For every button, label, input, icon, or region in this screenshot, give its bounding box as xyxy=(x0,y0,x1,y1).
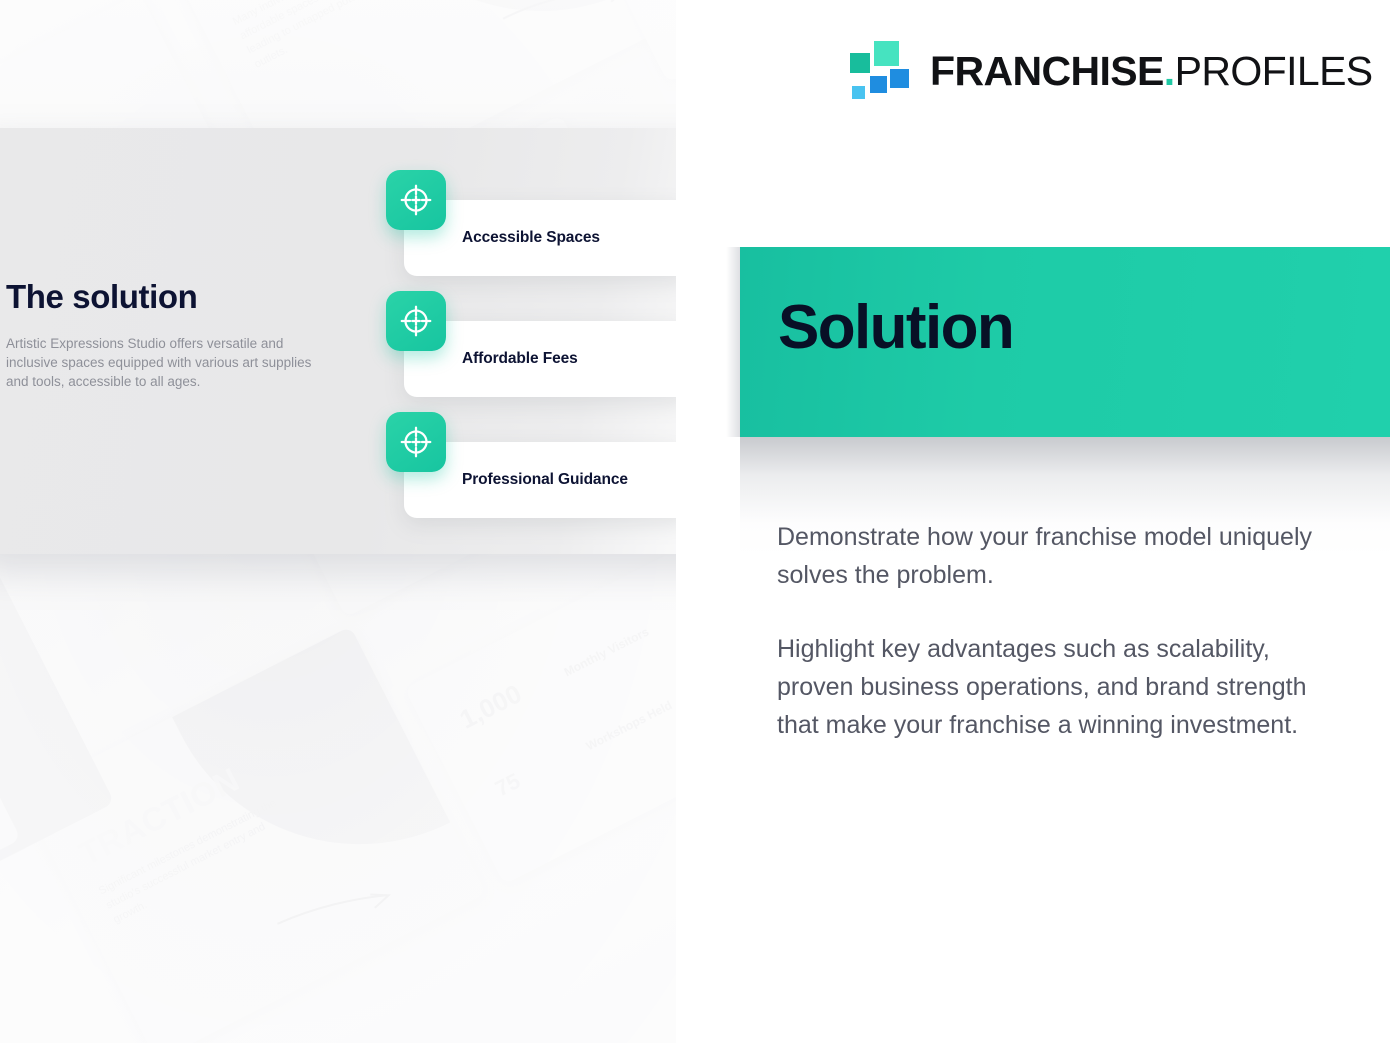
slide-preview-text-block: The solution Artistic Expressions Studio… xyxy=(6,278,336,391)
slide-preview-card: The solution Artistic Expressions Studio… xyxy=(0,128,744,554)
crosshair-target-icon xyxy=(386,170,446,230)
section-title: Solution xyxy=(778,297,1013,359)
feature-card-professional-guidance[interactable]: Professional Guidance xyxy=(404,442,690,518)
guidance-paragraph-1: Demonstrate how your franchise model uni… xyxy=(777,518,1313,594)
feature-card-label: Affordable Fees xyxy=(462,350,578,368)
franchise-profiles-logo: FRANCHISE.PROFILES xyxy=(848,40,1373,102)
logo-dot: . xyxy=(1164,48,1175,94)
feature-card-affordable-fees[interactable]: Affordable Fees xyxy=(404,321,690,397)
feature-card-label: Accessible Spaces xyxy=(462,229,600,247)
slide-preview-title: The solution xyxy=(6,278,336,316)
guidance-text: Demonstrate how your franchise model uni… xyxy=(777,518,1313,744)
crosshair-target-icon xyxy=(386,291,446,351)
logo-mark-squares-icon xyxy=(848,40,912,102)
crosshair-target-icon xyxy=(386,412,446,472)
section-banner: Solution xyxy=(740,247,1390,437)
slide-preview-description: Artistic Expressions Studio offers versa… xyxy=(6,334,336,391)
logo-wordmark: FRANCHISE.PROFILES xyxy=(930,51,1373,92)
guidance-paragraph-2: Highlight key advantages such as scalabi… xyxy=(777,630,1313,744)
feature-card-label: Professional Guidance xyxy=(462,471,628,489)
feature-card-accessible-spaces[interactable]: Accessible Spaces xyxy=(404,200,690,276)
logo-word-franchise: FRANCHISE xyxy=(930,48,1164,94)
logo-word-profiles: PROFILES xyxy=(1175,48,1373,94)
right-content-panel: FRANCHISE.PROFILES Solution Demonstrate … xyxy=(676,0,1390,1043)
